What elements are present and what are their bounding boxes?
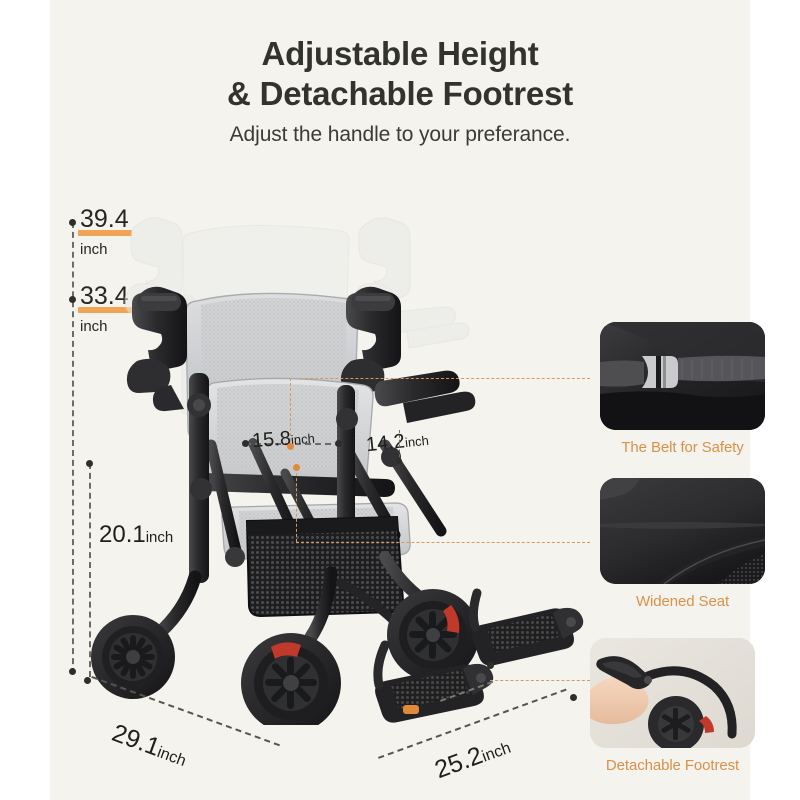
width-dot [570,694,577,701]
measure-seat-width: 15.8inch [251,426,315,453]
feature-caption-footrest: Detachable Footrest [590,757,755,774]
leader-line-footrest [490,680,590,681]
measure-seat-width-unit: inch [290,431,315,448]
product-illustration [85,205,595,725]
leader-dot-seat [293,464,300,471]
measure-dot-seat-bottom [69,668,76,675]
seat-width-dot-left [242,440,249,447]
seat-depth-dot [396,458,402,464]
measure-seat-depth-unit: inch [404,433,429,450]
feature-caption-seat: Widened Seat [600,593,765,610]
leader-line-seat [296,542,590,543]
title-line-1: Adjustable Height [261,35,538,72]
seat-width-dot-right [335,440,342,447]
measure-dot-handle-high [69,219,76,226]
feature-panel-seat[interactable]: Widened Seat [600,478,765,610]
page-title: Adjustable Height & Detachable Footrest [0,34,800,115]
feature-thumb-footrest [590,638,755,748]
left-measure-axis [72,222,74,674]
feature-panel-belt[interactable]: The Belt for Safety [600,322,765,456]
feature-caption-belt: The Belt for Safety [600,439,765,456]
page-subtitle: Adjust the handle to your preferance. [0,123,800,147]
leader-dot-belt [287,443,294,450]
leader-line-belt [300,378,590,379]
infographic-root: Adjustable Height & Detachable Footrest … [0,0,800,800]
leader-line-belt-vertical [290,378,291,446]
feature-thumb-belt [600,322,765,430]
feature-panel-footrest[interactable]: Detachable Footrest [590,638,755,774]
title-line-2: & Detachable Footrest [0,74,800,114]
leader-line-seat-vertical [296,468,297,542]
measure-dot-handle-low [69,296,76,303]
feature-thumb-seat [600,478,765,584]
measure-seat-width-value: 15.8 [251,428,291,453]
leader-dot-footrest [487,662,494,669]
